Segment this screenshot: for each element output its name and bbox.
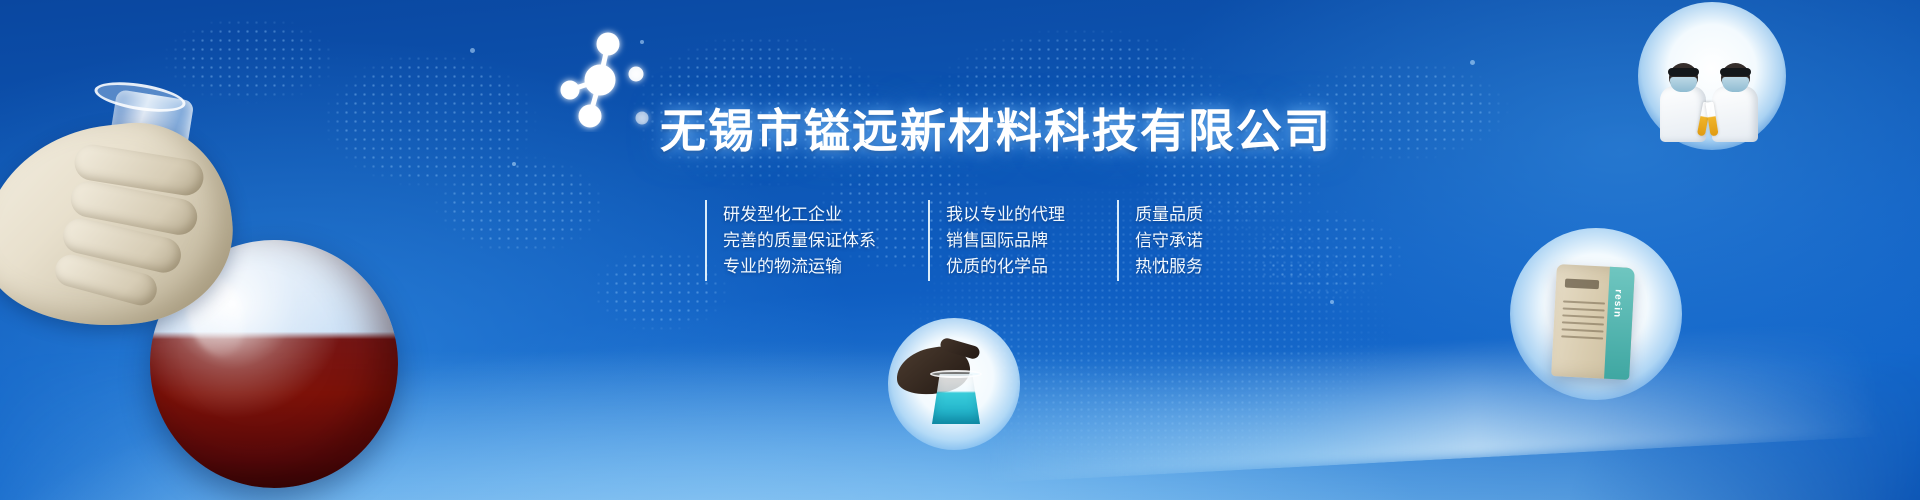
- tagline-line: 信守承诺: [1135, 228, 1203, 254]
- tagline-line: 销售国际品牌: [946, 228, 1065, 254]
- tagline-line: 热忱服务: [1135, 254, 1203, 280]
- tagline-line: 优质的化学品: [946, 254, 1065, 280]
- orb-beaker-photo: [888, 318, 1020, 450]
- tagline-line: 质量品质: [1135, 202, 1203, 228]
- molecule-icon: [552, 22, 672, 132]
- tagline-line: 完善的质量保证体系: [723, 228, 876, 254]
- sack-label: resin: [1611, 289, 1623, 318]
- tagline-column-1: 研发型化工企业 完善的质量保证体系 专业的物流运输: [705, 200, 876, 281]
- lab-coat: [1712, 86, 1758, 142]
- sparkle-dot: [470, 48, 475, 53]
- tagline-column-2: 我以专业的代理 销售国际品牌 优质的化学品: [928, 200, 1065, 281]
- sparkle-dot: [512, 162, 516, 166]
- company-banner: 无锡市镒远新材料科技有限公司 研发型化工企业 完善的质量保证体系 专业的物流运输…: [0, 0, 1920, 500]
- tagline-group: 研发型化工企业 完善的质量保证体系 专业的物流运输 我以专业的代理 销售国际品牌…: [705, 200, 1203, 281]
- orb-product-sack-photo: resin: [1510, 228, 1682, 400]
- sparkle-dot: [1330, 300, 1334, 304]
- orb-scientists-photo: [1638, 2, 1786, 150]
- goggles-icon: [1668, 68, 1699, 76]
- beaker: [932, 374, 980, 424]
- sack-logo: [1565, 278, 1599, 289]
- flask-illustration: [0, 90, 442, 500]
- tagline-column-3: 质量品质 信守承诺 热忱服务: [1117, 200, 1203, 281]
- sparkle-dot: [1470, 60, 1475, 65]
- tagline-line: 我以专业的代理: [946, 202, 1065, 228]
- sack-text-lines: [1561, 300, 1605, 344]
- page-title: 无锡市镒远新材料科技有限公司: [660, 95, 1332, 161]
- resin-sack: resin: [1551, 264, 1635, 380]
- tagline-line: 专业的物流运输: [723, 254, 876, 280]
- beaker-lip: [930, 370, 982, 378]
- tagline-line: 研发型化工企业: [723, 202, 876, 228]
- goggles-icon: [1720, 68, 1751, 76]
